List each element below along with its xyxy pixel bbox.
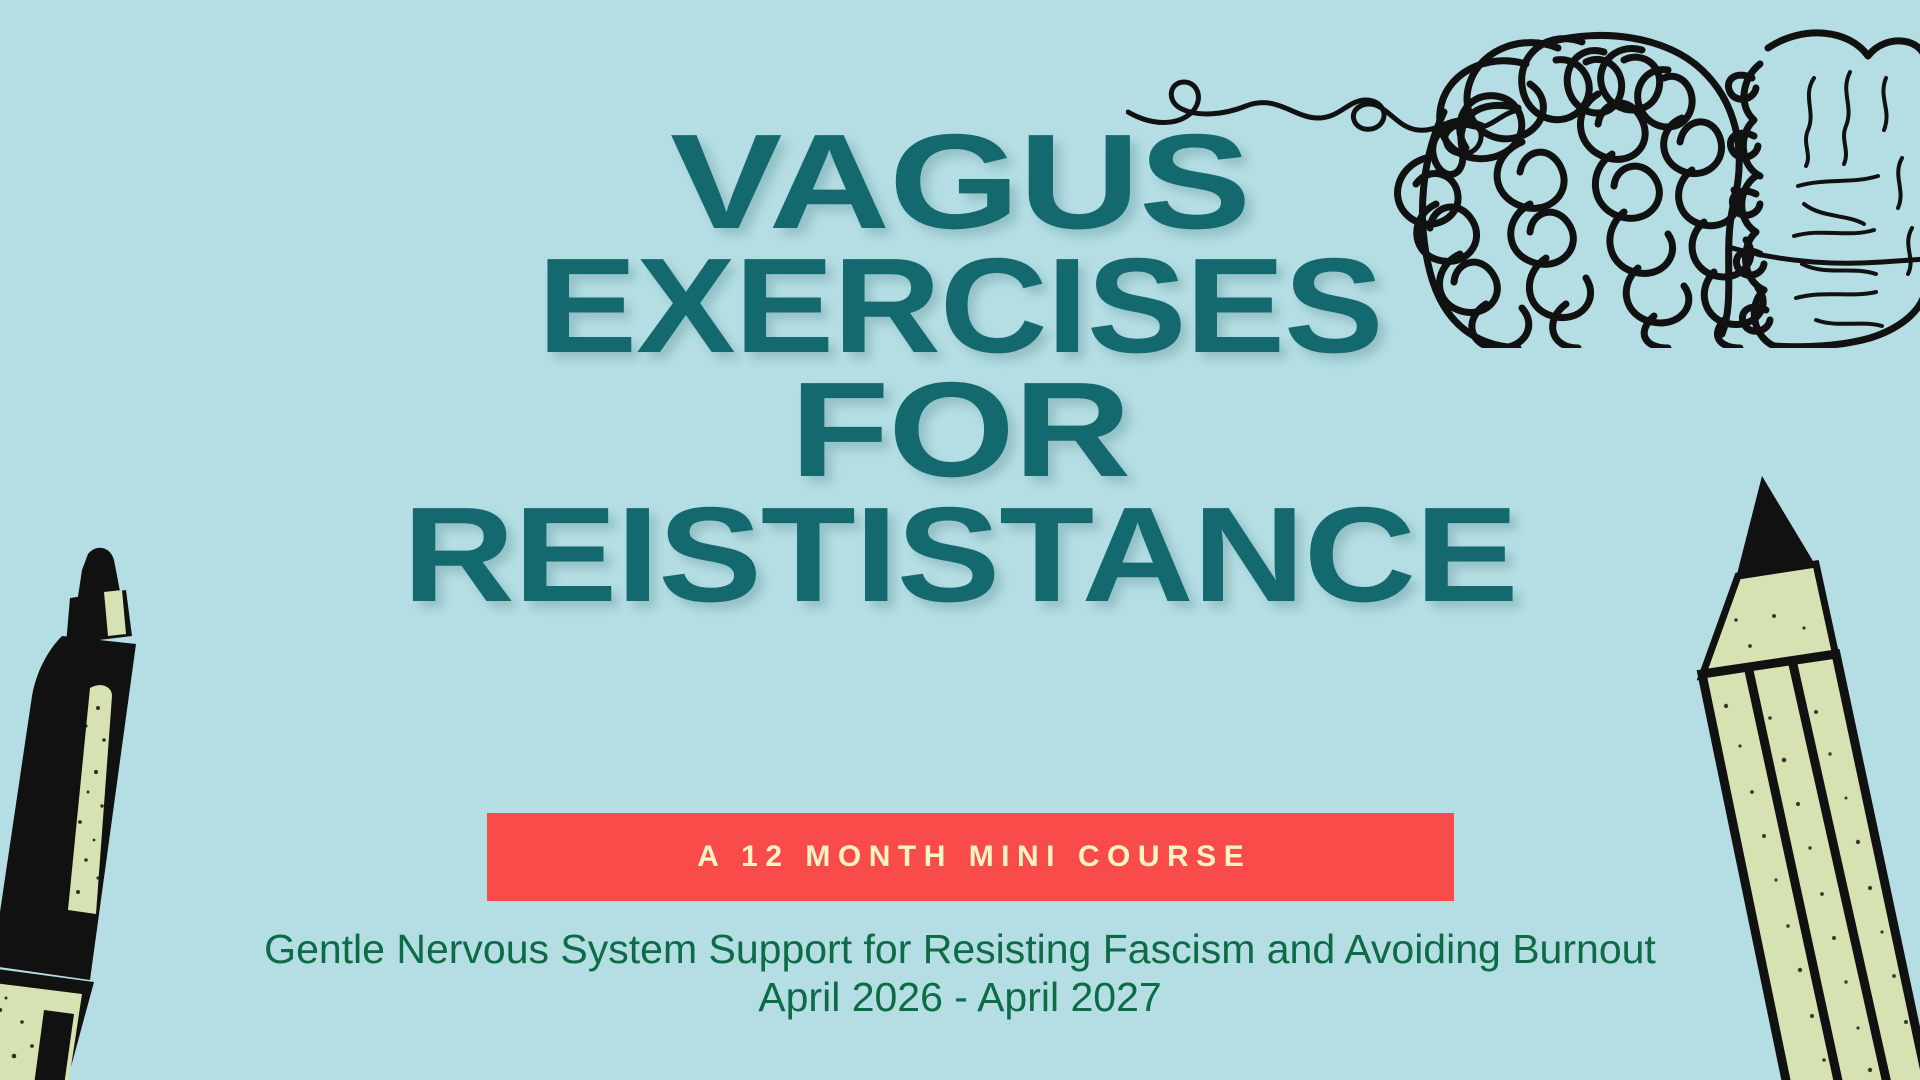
title-line-1: VAGUS — [0, 120, 1920, 244]
page-title: VAGUS EXERCISES FOR REISTISTANCE — [0, 120, 1920, 617]
title-line-4: REISTISTANCE — [0, 493, 1920, 617]
subtitle-line-2: April 2026 - April 2027 — [0, 973, 1920, 1021]
course-badge: A 12 MONTH MINI COURSE — [487, 813, 1454, 901]
badge-label: A 12 MONTH MINI COURSE — [690, 840, 1251, 874]
title-line-3: FOR — [0, 368, 1920, 492]
subtitle: Gentle Nervous System Support for Resist… — [0, 925, 1920, 1022]
poster-canvas: VAGUS EXERCISES FOR REISTISTANCE A 12 MO… — [0, 0, 1920, 1080]
subtitle-line-1: Gentle Nervous System Support for Resist… — [0, 925, 1920, 973]
title-line-2: EXERCISES — [0, 244, 1920, 368]
